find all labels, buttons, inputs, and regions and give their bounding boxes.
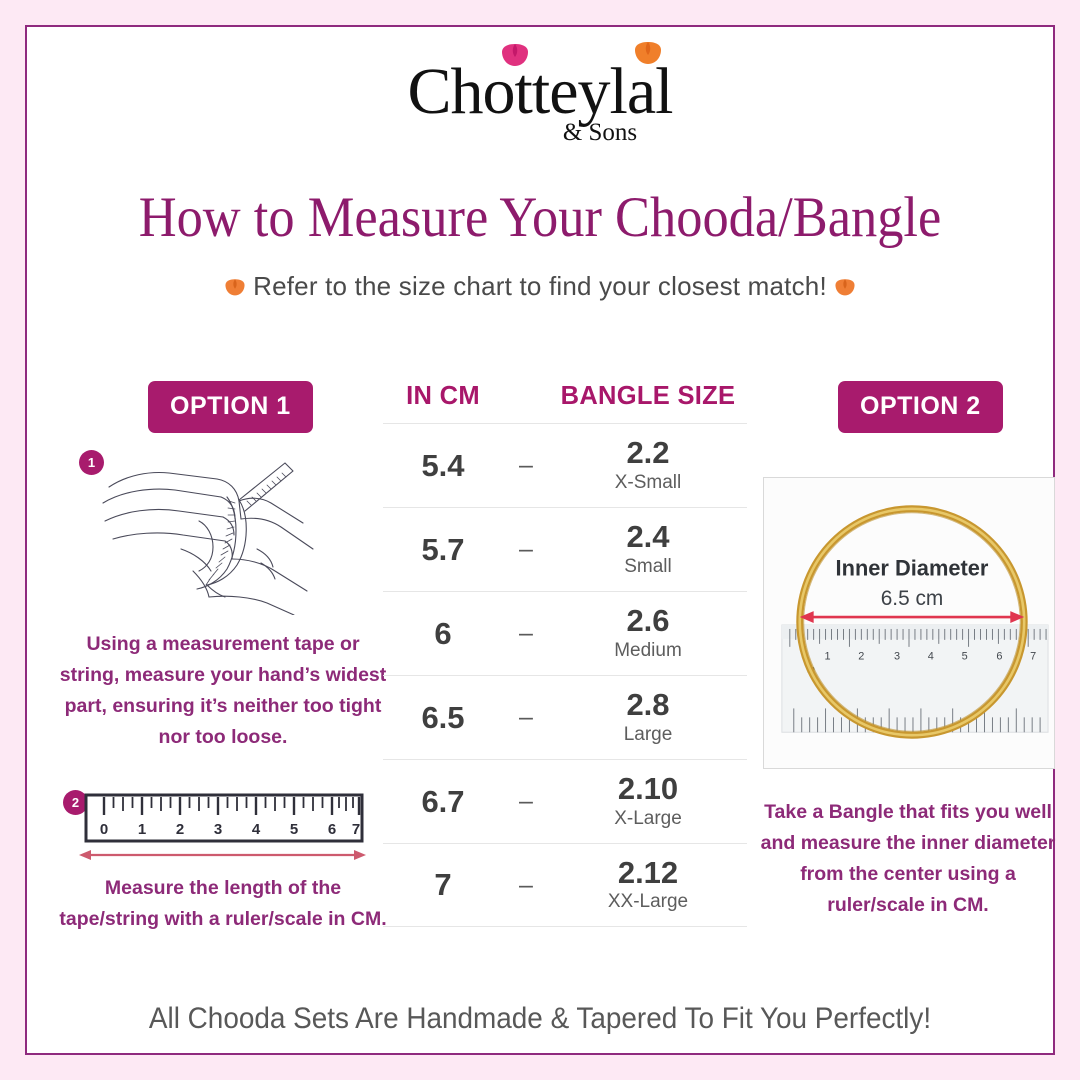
svg-text:4: 4 (252, 821, 261, 838)
cell-separator: – (503, 619, 549, 648)
svg-text:1: 1 (138, 821, 146, 838)
column-header-size: BANGLE SIZE (561, 382, 736, 410)
cell-size-value: 2.8 (549, 689, 747, 722)
cell-size-name: Medium (549, 640, 747, 662)
cell-size: 2.4 Small (549, 521, 747, 578)
svg-text:Inner Diameter: Inner Diameter (836, 555, 989, 580)
brand-logo: Chotteylal & Sons (27, 59, 1053, 179)
cell-size: 2.8 Large (549, 689, 747, 746)
svg-text:6: 6 (996, 651, 1002, 663)
tulip-pink-icon (500, 43, 530, 69)
cell-size-name: X-Small (549, 472, 747, 494)
cell-size-name: Large (549, 724, 747, 746)
cell-cm: 6.5 (383, 700, 503, 736)
column-header-cm: IN CM (406, 382, 480, 410)
cell-size-value: 2.6 (549, 605, 747, 638)
subtitle-text: Refer to the size chart to find your clo… (253, 271, 827, 301)
svg-text:5: 5 (290, 821, 298, 838)
svg-text:2: 2 (858, 651, 864, 663)
hand-measure-illustration (89, 445, 379, 615)
cell-cm: 6.7 (383, 784, 503, 820)
cell-size: 2.2 X-Small (549, 437, 747, 494)
svg-text:7: 7 (1030, 651, 1036, 663)
table-row: 6.7 – 2.10 X-Large (383, 759, 747, 843)
cell-size-value: 2.12 (549, 857, 747, 890)
cell-size: 2.10 X-Large (549, 773, 747, 830)
cell-separator: – (503, 787, 549, 816)
cell-cm: 5.7 (383, 532, 503, 568)
table-header-row: IN CM BANGLE SIZE (383, 382, 747, 423)
page-title: How to Measure Your Chooda/Bangle (68, 185, 1012, 250)
cell-size-name: Small (549, 556, 747, 578)
cell-size: 2.12 XX-Large (549, 857, 747, 914)
svg-text:4: 4 (928, 651, 934, 663)
cell-size-value: 2.2 (549, 437, 747, 470)
tulip-orange-icon (633, 41, 663, 67)
cell-separator: – (503, 451, 549, 480)
svg-text:7: 7 (352, 821, 360, 838)
cell-cm: 6 (383, 616, 503, 652)
size-chart-table: IN CM BANGLE SIZE 5.4 – 2.2 X-Small 5.7 … (383, 382, 747, 927)
cell-separator: – (503, 535, 549, 564)
option-1-step-2-text: Measure the length of the tape/string wi… (57, 873, 389, 935)
cell-size-value: 2.4 (549, 521, 747, 554)
cell-separator: – (503, 703, 549, 732)
svg-text:2: 2 (176, 821, 184, 838)
tulip-left-icon (224, 274, 246, 294)
brand-name-wrap: Chotteylal (408, 59, 673, 125)
cell-cm: 5.4 (383, 448, 503, 484)
option-2-badge: OPTION 2 (838, 381, 1003, 433)
svg-text:0: 0 (100, 821, 108, 838)
table-row: 6.5 – 2.8 Large (383, 675, 747, 759)
cell-size-name: XX-Large (549, 891, 747, 913)
ruler-illustration: 012 345 67 (84, 793, 364, 843)
cell-size: 2.6 Medium (549, 605, 747, 662)
footer-tagline: All Chooda Sets Are Handmade & Tapered T… (63, 1002, 1017, 1036)
table-row: 7 – 2.12 XX-Large (383, 843, 747, 927)
ruler-span-arrow (77, 847, 368, 863)
svg-text:6.5 cm: 6.5 cm (881, 587, 944, 610)
table-row: 5.7 – 2.4 Small (383, 507, 747, 591)
table-row: 5.4 – 2.2 X-Small (383, 423, 747, 507)
svg-text:3: 3 (894, 651, 900, 663)
option-1-step-1-text: Using a measurement tape or string, meas… (55, 629, 391, 753)
cell-cm: 7 (383, 867, 503, 903)
page-subtitle: Refer to the size chart to find your clo… (27, 271, 1053, 302)
svg-text:3: 3 (214, 821, 222, 838)
bangle-measure-photo: 123 456 7 m (763, 477, 1055, 769)
option-2-text: Take a Bangle that fits you well and mea… (755, 797, 1061, 921)
option-1-badge: OPTION 1 (148, 381, 313, 433)
svg-text:5: 5 (962, 651, 968, 663)
svg-text:6: 6 (328, 821, 336, 838)
cell-size-name: X-Large (549, 808, 747, 830)
cell-size-value: 2.10 (549, 773, 747, 806)
tulip-right-icon (834, 274, 856, 294)
table-row: 6 – 2.6 Medium (383, 591, 747, 675)
cell-separator: – (503, 871, 549, 900)
poster-frame: Chotteylal & Sons How to Measure Your Ch… (25, 25, 1055, 1055)
svg-text:1: 1 (825, 651, 831, 663)
